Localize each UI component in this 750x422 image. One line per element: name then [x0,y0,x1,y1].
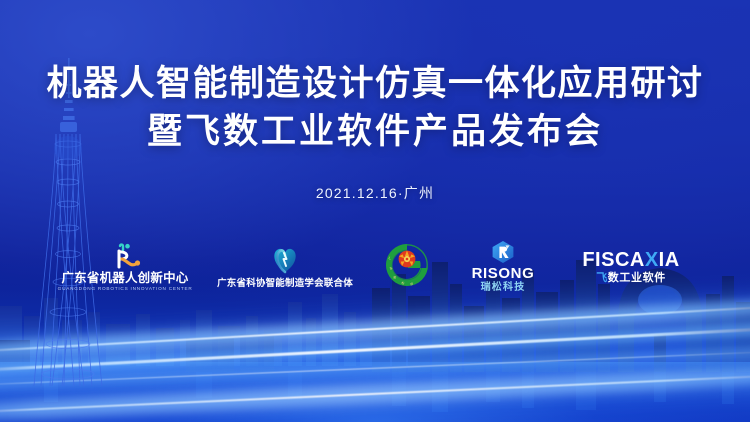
event-poster: 机器人智能制造设计仿真一体化应用研讨 暨飞数工业软件产品发布会 2021.12.… [0,0,750,422]
hexagon-r-mark-icon [490,240,516,264]
logo-gdkx: 广东省科协智能制造学会联合体 [216,237,354,297]
svg-text:协: 协 [409,281,415,286]
logo-fiscaxia-cn-a: 飞 [596,272,608,284]
logo-fiscaxia-en-b: IA [659,249,680,271]
title-line-1: 机器人智能制造设计仿真一体化应用研讨 [0,60,750,108]
poster-title: 机器人智能制造设计仿真一体化应用研讨 暨飞数工业软件产品发布会 [0,60,750,156]
logo-risong: RISONG 瑞松科技 [460,237,546,297]
date-location: 2021.12.16·广州 [0,183,750,203]
logo-fiscaxia-wordmark: FISCAXIA [582,249,679,271]
logo-gdric-en: GUANGDONG ROBOTICS INNOVATION CENTER [58,285,193,292]
logo-fiscaxia: FISCAXIA 飞数工业软件 [572,237,690,297]
robot-r-mark-icon [108,243,142,269]
logo-fiscaxia-cn: 飞数工业软件 [596,272,666,285]
logo-fiscaxia-en-a: FISCA [582,249,645,271]
logo-gdast: 广 东 省 科 协 [380,237,434,297]
sponsor-logo-strip: 广东省机器人创新中心 GUANGDONG ROBOTICS INNOVATION… [0,236,750,298]
logo-gdric: 广东省机器人创新中心 GUANGDONG ROBOTICS INNOVATION… [60,237,190,297]
logo-risong-cn: 瑞松科技 [481,282,526,294]
green-g-emblem-icon: 广 东 省 科 协 [384,242,430,293]
logo-gdric-cn: 广东省机器人创新中心 [61,271,188,285]
logo-risong-en: RISONG [472,265,535,282]
logo-gdkx-cn: 广东省科协智能制造学会联合体 [217,278,353,290]
logo-fiscaxia-cn-b: 数工业软件 [608,272,666,284]
title-line-2: 暨飞数工业软件产品发布会 [0,108,750,156]
knot-heart-mark-icon [269,245,301,275]
logo-fiscaxia-en-x: X [645,249,659,271]
